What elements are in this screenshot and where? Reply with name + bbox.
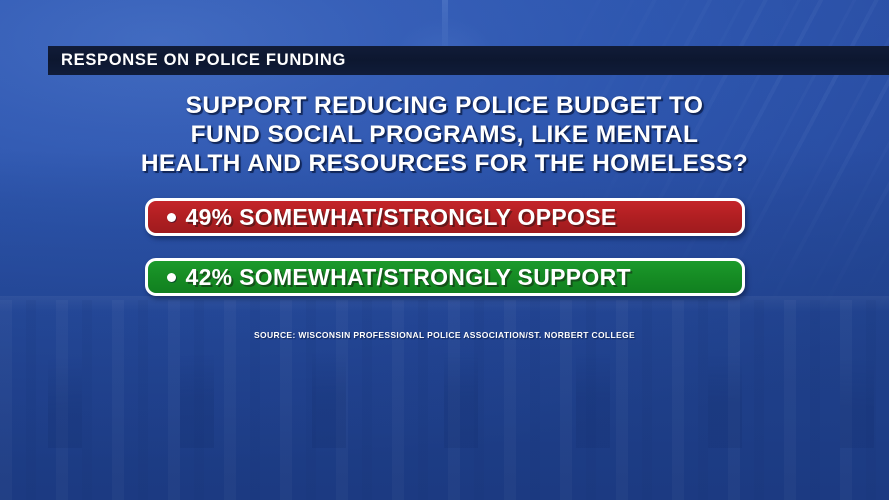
result-bar-support: 42% SOMEWHAT/STRONGLY SUPPORT: [145, 258, 745, 296]
result-bar-oppose: 49% SOMEWHAT/STRONGLY OPPOSE: [145, 198, 745, 236]
poll-results: 49% SOMEWHAT/STRONGLY OPPOSE 42% SOMEWHA…: [0, 198, 889, 296]
result-bar-support-label: 42% SOMEWHAT/STRONGLY SUPPORT: [186, 264, 631, 291]
poll-question: SUPPORT REDUCING POLICE BUDGET TO FUND S…: [0, 91, 889, 178]
source-credit: SOURCE: WISCONSIN PROFESSIONAL POLICE AS…: [0, 330, 889, 340]
result-bar-oppose-label: 49% SOMEWHAT/STRONGLY OPPOSE: [186, 204, 617, 231]
bullet-icon: [167, 273, 176, 282]
poll-question-line-2: FUND SOCIAL PROGRAMS, LIKE MENTAL: [0, 120, 889, 149]
broadcast-poll-graphic: RESPONSE ON POLICE FUNDING SUPPORT REDUC…: [0, 0, 889, 500]
poll-question-line-3: HEALTH AND RESOURCES FOR THE HOMELESS?: [0, 149, 889, 178]
bullet-icon: [167, 213, 176, 222]
poll-question-line-1: SUPPORT REDUCING POLICE BUDGET TO: [0, 91, 889, 120]
topic-banner: RESPONSE ON POLICE FUNDING: [48, 46, 889, 75]
topic-banner-label: RESPONSE ON POLICE FUNDING: [48, 51, 346, 70]
graphic-content: RESPONSE ON POLICE FUNDING SUPPORT REDUC…: [0, 0, 889, 500]
